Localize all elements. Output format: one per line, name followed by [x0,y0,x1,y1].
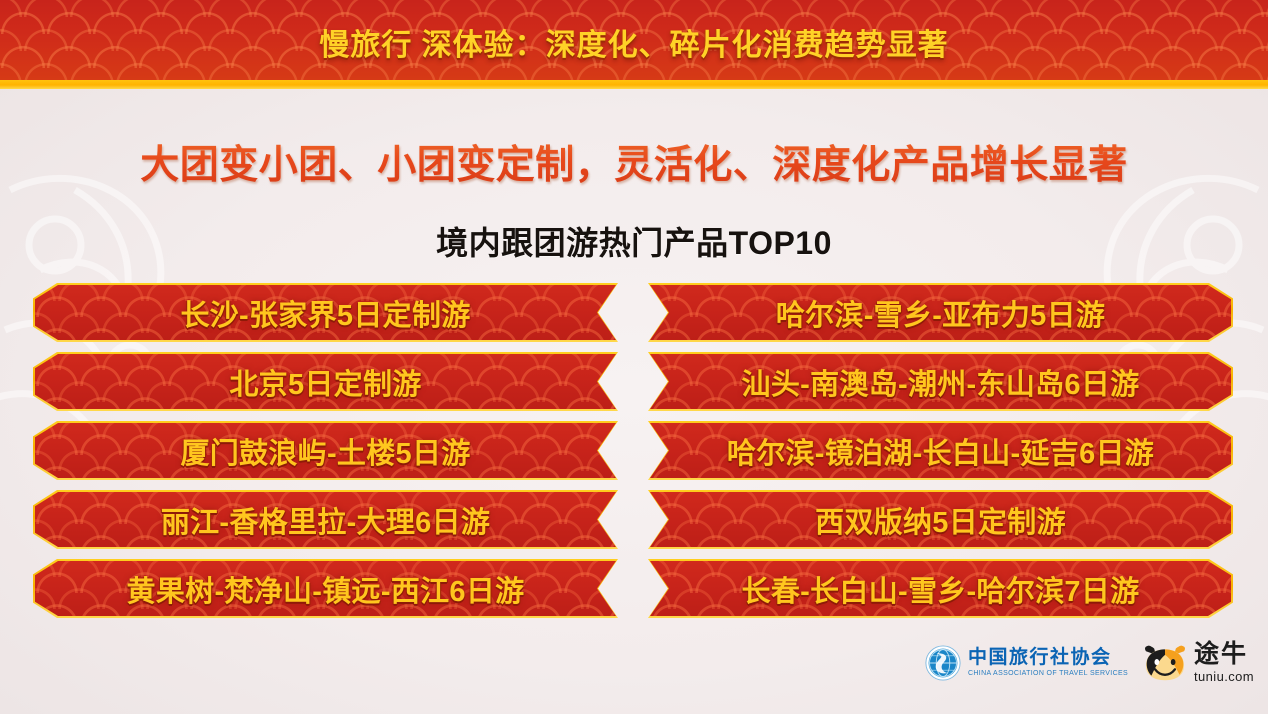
header-title: 慢旅行 深体验：深度化、碎片化消费趋势显著 [0,20,1268,64]
ranking-item-label: 北京5日定制游 [229,361,421,403]
cats-logo: 中国旅行社协会 CHINA ASSOCIATION OF TRAVEL SERV… [925,645,1128,681]
ranking-item-body: 汕头-南澳岛-潮州-东山岛6日游 [650,354,1231,409]
ranking-item-body: 长沙-张家界5日定制游 [35,285,616,340]
ranking-item-body: 厦门鼓浪屿-土楼5日游 [35,423,616,478]
slide-root: 慢旅行 深体验：深度化、碎片化消费趋势显著 大团变小团、小团变定制，灵活化、深度… [0,0,1268,714]
ranking-item-label: 黄果树-梵净山-镇远-西江6日游 [127,568,525,610]
ranking-item-label: 哈尔滨-雪乡-亚布力5日游 [776,292,1105,334]
ranking-item-body: 西双版纳5日定制游 [650,492,1231,547]
footer-logo-group: 中国旅行社协会 CHINA ASSOCIATION OF TRAVEL SERV… [925,642,1254,683]
ranking-item-label: 西双版纳5日定制游 [815,499,1066,541]
ranking-item-body: 北京5日定制游 [35,354,616,409]
tuniu-name-cn: 途牛 [1194,642,1254,667]
ranking-item[interactable]: 汕头-南澳岛-潮州-东山岛6日游 [648,352,1233,411]
header-gold-divider [0,80,1268,89]
cats-logo-text: 中国旅行社协会 CHINA ASSOCIATION OF TRAVEL SERV… [968,648,1128,677]
ranking-item-label: 长沙-张家界5日定制游 [180,292,470,334]
main-title: 大团变小团、小团变定制，灵活化、深度化产品增长显著 [0,134,1268,190]
ranking-item[interactable]: 北京5日定制游 [33,352,618,411]
ranking-item-body: 长春-长白山-雪乡-哈尔滨7日游 [650,561,1231,616]
ranking-column-right: 哈尔滨-雪乡-亚布力5日游 汕头-南澳岛-潮州-东山岛6日游 哈尔滨-镜泊湖-长… [648,283,1233,628]
ranking-item-body: 黄果树-梵净山-镇远-西江6日游 [35,561,616,616]
tuniu-logo: 途牛 tuniu.com [1142,642,1254,683]
ranking-item[interactable]: 哈尔滨-雪乡-亚布力5日游 [648,283,1233,342]
tuniu-logo-text: 途牛 tuniu.com [1194,642,1254,683]
ranking-item-label: 汕头-南澳岛-潮州-东山岛6日游 [742,361,1140,403]
ranking-item[interactable]: 黄果树-梵净山-镇远-西江6日游 [33,559,618,618]
ranking-item-body: 哈尔滨-雪乡-亚布力5日游 [650,285,1231,340]
ranking-column-left: 长沙-张家界5日定制游 北京5日定制游 厦门鼓浪屿-土楼5日游 丽江-香格里拉-… [33,283,618,628]
cats-name-cn: 中国旅行社协会 [968,648,1128,667]
ranking-item[interactable]: 厦门鼓浪屿-土楼5日游 [33,421,618,480]
sub-title: 境内跟团游热门产品TOP10 [0,218,1268,264]
ranking-item-label: 丽江-香格里拉-大理6日游 [161,499,490,541]
globe-icon [925,645,961,681]
header-bar: 慢旅行 深体验：深度化、碎片化消费趋势显著 [0,0,1268,80]
ranking-item[interactable]: 长沙-张家界5日定制游 [33,283,618,342]
cow-icon [1142,644,1188,682]
ranking-item[interactable]: 哈尔滨-镜泊湖-长白山-延吉6日游 [648,421,1233,480]
ranking-item[interactable]: 西双版纳5日定制游 [648,490,1233,549]
ranking-item[interactable]: 丽江-香格里拉-大理6日游 [33,490,618,549]
ranking-item-body: 哈尔滨-镜泊湖-长白山-延吉6日游 [650,423,1231,478]
cats-name-en: CHINA ASSOCIATION OF TRAVEL SERVICES [968,670,1128,677]
ranking-item-body: 丽江-香格里拉-大理6日游 [35,492,616,547]
ranking-item-label: 厦门鼓浪屿-土楼5日游 [180,430,470,472]
ranking-item-label: 长春-长白山-雪乡-哈尔滨7日游 [742,568,1140,610]
tuniu-domain: tuniu.com [1194,670,1254,683]
ranking-item[interactable]: 长春-长白山-雪乡-哈尔滨7日游 [648,559,1233,618]
ranking-item-label: 哈尔滨-镜泊湖-长白山-延吉6日游 [727,430,1154,472]
